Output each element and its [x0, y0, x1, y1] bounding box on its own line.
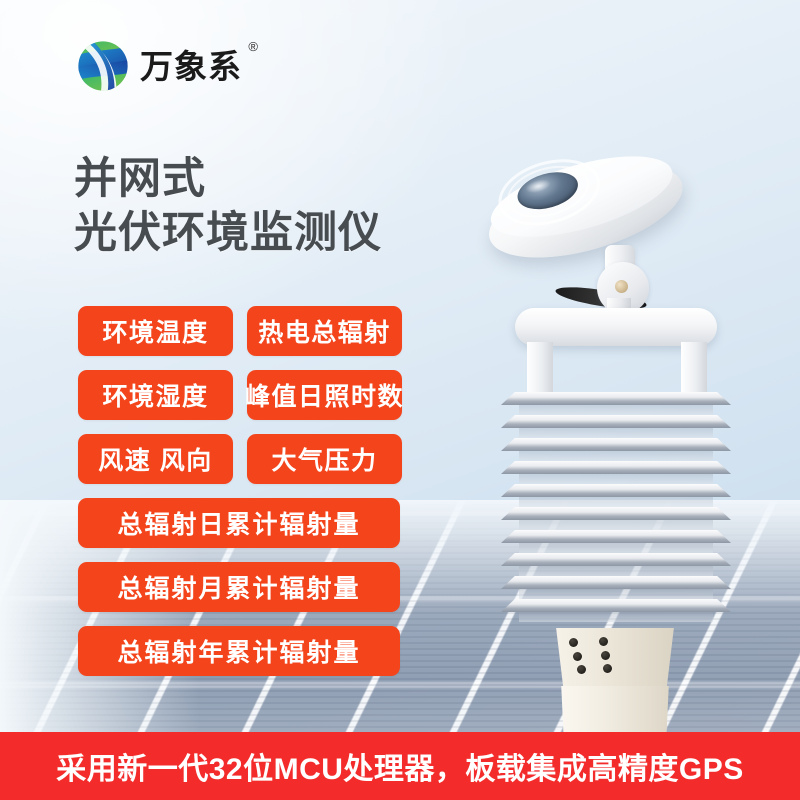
feature-tag-atmospheric-pressure[interactable]: 大气压力	[247, 434, 402, 484]
page-title-line2: 光伏环境监测仪	[74, 206, 382, 260]
louver-gap	[519, 497, 713, 507]
product-marketing-image: 万象系 ® 并网式 光伏环境监测仪 环境温度 热电总辐射 环境湿度 峰值日照时数…	[0, 0, 800, 800]
louver-gap	[519, 520, 713, 530]
louver-gap	[519, 451, 713, 461]
feature-tag-yearly-cumulative-radiation[interactable]: 总辐射年累计辐射量	[78, 626, 400, 676]
louver-plate	[501, 392, 731, 405]
feature-tag-ambient-temperature[interactable]: 环境温度	[78, 306, 233, 356]
feature-tag-row: 总辐射年累计辐射量	[78, 626, 402, 676]
louver-gap	[519, 543, 713, 553]
hinge-screw-icon	[615, 280, 628, 293]
feature-tag-peak-sun-hours[interactable]: 峰值日照时数	[247, 370, 402, 420]
louver-plate	[501, 576, 731, 589]
feature-tag-row: 环境温度 热电总辐射	[78, 306, 402, 356]
louver-gap	[519, 589, 713, 599]
feature-tag-wind-speed-direction[interactable]: 风速 风向	[78, 434, 233, 484]
louver-gap	[519, 612, 713, 622]
brand-name-text: 万象系	[140, 48, 242, 85]
louver-gap	[519, 428, 713, 438]
registered-trademark-icon: ®	[248, 40, 259, 53]
feature-tag-daily-cumulative-radiation[interactable]: 总辐射日累计辐射量	[78, 498, 400, 548]
feature-tag-row: 环境湿度 峰值日照时数	[78, 370, 402, 420]
feature-tag-total-thermopile-radiation[interactable]: 热电总辐射	[247, 306, 402, 356]
globe-swirl-logo-icon	[75, 38, 131, 94]
pyranometer-sensor	[471, 114, 720, 335]
louver-plate	[501, 484, 731, 497]
louver-gap	[519, 474, 713, 484]
louver-plate	[501, 553, 731, 566]
louver-plate	[501, 415, 731, 428]
louvered-radiation-shield	[501, 392, 731, 628]
page-title-line1: 并网式	[74, 152, 382, 206]
vent-hole	[599, 637, 608, 646]
feature-tag-row: 风速 风向 大气压力	[78, 434, 402, 484]
brand-name: 万象系 ®	[140, 50, 242, 83]
sensor-base-upper	[551, 628, 679, 692]
vent-hole	[601, 651, 610, 660]
vent-hole	[577, 665, 586, 674]
shield-top-cap	[515, 308, 717, 346]
feature-tag-monthly-cumulative-radiation[interactable]: 总辐射月累计辐射量	[78, 562, 400, 612]
louver-plate	[501, 461, 731, 474]
louver-plate	[501, 599, 731, 612]
vent-hole	[573, 652, 582, 661]
feature-tag-row: 总辐射日累计辐射量	[78, 498, 402, 548]
vent-hole	[569, 638, 578, 647]
louver-plate	[501, 530, 731, 543]
vent-hole	[603, 664, 612, 673]
brand-logo: 万象系 ®	[75, 38, 242, 94]
feature-tag-ambient-humidity[interactable]: 环境湿度	[78, 370, 233, 420]
page-title: 并网式 光伏环境监测仪	[74, 152, 382, 260]
feature-tag-row: 总辐射月累计辐射量	[78, 562, 402, 612]
bottom-banner: 采用新一代32位MCU处理器，板载集成高精度GPS	[0, 732, 800, 800]
louver-gap	[519, 405, 713, 415]
louver-plate	[501, 438, 731, 451]
product-image	[455, 120, 775, 740]
feature-tag-list: 环境温度 热电总辐射 环境湿度 峰值日照时数 风速 风向 大气压力 总辐射日累计…	[78, 306, 402, 690]
bottom-banner-text: 采用新一代32位MCU处理器，板载集成高精度GPS	[56, 744, 744, 788]
louver-plate	[501, 507, 731, 520]
louver-gap	[519, 566, 713, 576]
